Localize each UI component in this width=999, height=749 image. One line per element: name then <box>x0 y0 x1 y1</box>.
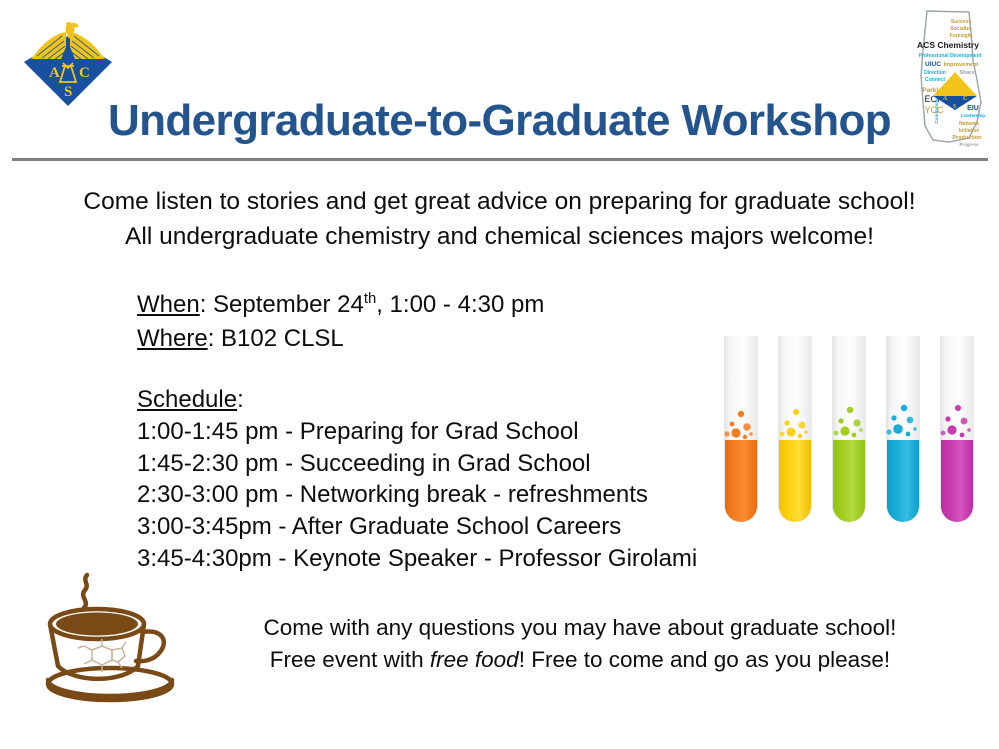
schedule-heading: Schedule: <box>137 384 697 416</box>
footer-line-2-pre: Free event with <box>270 647 430 672</box>
when-ordinal-suffix: th <box>364 291 376 307</box>
when-value-post: , 1:00 - 4:30 pm <box>376 291 544 318</box>
intro-line-1: Come listen to stories and get great adv… <box>0 184 999 219</box>
schedule-item: 1:45-2:30 pm - Succeeding in Grad School <box>137 448 697 480</box>
test-tube-magenta <box>940 336 974 523</box>
schedule-heading-colon: : <box>237 386 244 413</box>
word-professional-development: Professional Development <box>919 53 982 59</box>
schedule-item: 2:30-3:00 pm - Networking break - refres… <box>137 479 697 511</box>
schedule-item: 3:00-3:45pm - After Graduate School Care… <box>137 511 697 543</box>
schedule-section: Schedule: 1:00-1:45 pm - Preparing for G… <box>137 384 697 575</box>
where-value: : B102 CLSL <box>208 325 344 352</box>
flyer-page: A C S Success Socialize Foresight ACS Ch… <box>0 0 999 749</box>
schedule-item: 1:00-1:45 pm - Preparing for Grad School <box>137 416 697 448</box>
where-line: Where: B102 CLSL <box>137 322 544 356</box>
test-tubes-illustration <box>714 328 986 560</box>
acs-letter-c: C <box>79 65 90 81</box>
steam-icon <box>83 575 87 608</box>
intro-paragraph: Come listen to stories and get great adv… <box>0 184 999 254</box>
schedule-heading-label: Schedule <box>137 386 237 413</box>
test-tube-orange <box>724 336 758 523</box>
title-divider <box>12 158 988 161</box>
event-details: When: September 24th, 1:00 - 4:30 pm Whe… <box>137 288 544 355</box>
schedule-item: 3:45-4:30pm - Keynote Speaker - Professo… <box>137 543 697 575</box>
footer-line-2: Free event with free food! Free to come … <box>180 644 980 676</box>
footer-emphasis-free-food: free food <box>430 647 519 672</box>
word-improvement: Improvement <box>944 62 979 68</box>
footer-note: Come with any questions you may have abo… <box>180 612 980 676</box>
page-title: Undergraduate-to-Graduate Workshop <box>0 96 999 146</box>
word-share: Share <box>959 70 974 76</box>
when-line: When: September 24th, 1:00 - 4:30 pm <box>137 288 544 322</box>
word-direction: Direction <box>924 70 946 76</box>
acs-letter-a: A <box>49 65 60 81</box>
word-socialize: Socialize <box>950 26 972 32</box>
word-success: Success <box>951 19 972 25</box>
coffee-cup-illustration <box>22 562 202 712</box>
intro-line-2: All undergraduate chemistry and chemical… <box>0 219 999 254</box>
word-uiuc: UIUC <box>925 61 941 68</box>
word-acs-chemistry: ACS Chemistry <box>917 40 979 50</box>
saucer-rim <box>48 680 172 696</box>
word-foresight: Foresight <box>950 33 973 39</box>
test-tube-yellow <box>778 336 812 523</box>
footer-line-1: Come with any questions you may have abo… <box>180 612 980 644</box>
footer-line-2-post: ! Free to come and go as you please! <box>519 647 890 672</box>
word-connect: Connect <box>925 77 945 83</box>
when-value-pre: : September 24 <box>200 291 364 318</box>
test-tube-green <box>832 336 866 523</box>
acs-logo: A C S <box>22 16 114 108</box>
when-label: When <box>137 291 200 318</box>
coffee-surface <box>56 613 138 636</box>
where-label: Where <box>137 325 208 352</box>
test-tube-cyan <box>886 336 920 523</box>
